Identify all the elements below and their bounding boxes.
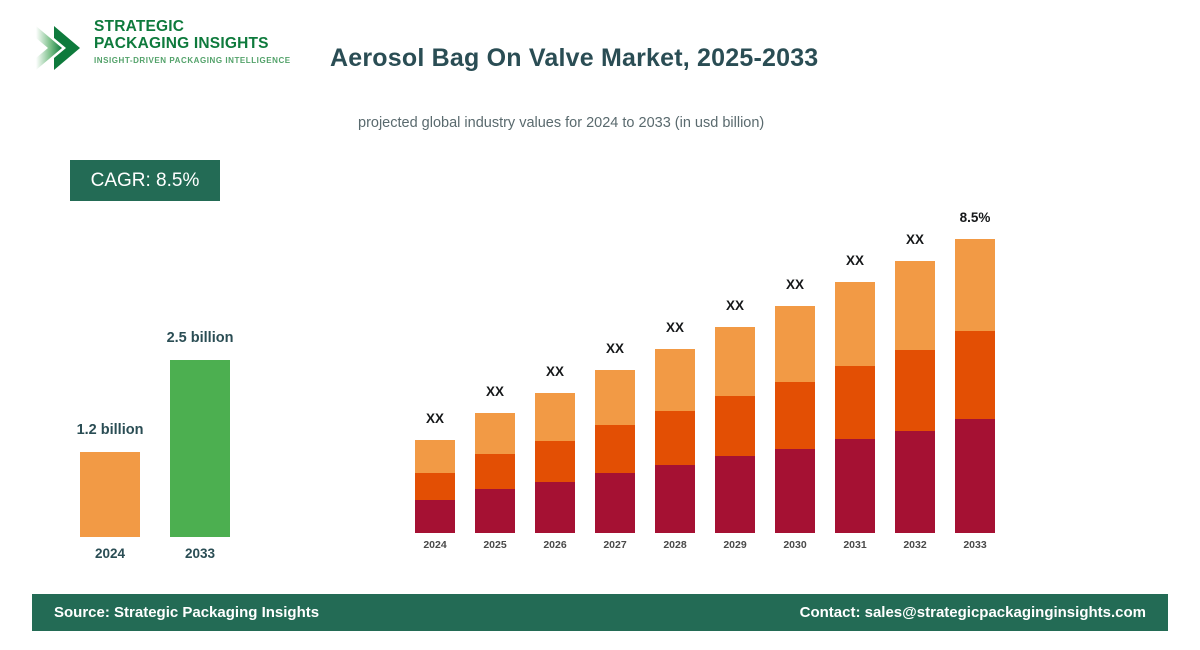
forecast-value-annotation: 8.5%: [930, 210, 1020, 225]
forecast-bar-segment: [775, 382, 815, 449]
forecast-bar-segment: [955, 419, 995, 533]
footer-source-label: Source: Strategic Packaging Insights: [54, 604, 319, 621]
forecast-bar-segment: [835, 282, 875, 366]
forecast-bar-group: XX2029: [715, 0, 755, 600]
forecast-value-annotation: XX: [510, 364, 600, 379]
forecast-bar-group: XX2028: [655, 0, 695, 600]
forecast-bar-segment: [715, 396, 755, 456]
forecast-bar-group: XX2031: [835, 0, 875, 600]
forecast-bar-segment: [595, 370, 635, 425]
forecast-bar-segment: [655, 349, 695, 411]
forecast-bar-segment: [475, 413, 515, 454]
forecast-bar-segment: [535, 482, 575, 533]
forecast-value-annotation: XX: [810, 253, 900, 268]
forecast-stacked-chart: XX2024XX2025XX2026XX2027XX2028XX2029XX20…: [0, 0, 1200, 600]
chart-canvas: STRATEGIC PACKAGING INSIGHTS INSIGHT-DRI…: [0, 0, 1200, 650]
forecast-bar-segment: [895, 431, 935, 533]
forecast-bar-segment: [835, 439, 875, 533]
forecast-year-label: 2033: [930, 539, 1020, 551]
forecast-bar-segment: [775, 306, 815, 382]
forecast-value-annotation: XX: [750, 277, 840, 292]
forecast-bar-group: XX2024: [415, 0, 455, 600]
forecast-bar-group: XX2032: [895, 0, 935, 600]
forecast-bar-segment: [895, 261, 935, 350]
forecast-value-annotation: XX: [870, 232, 960, 247]
footer-contact-label: Contact: sales@strategicpackaginginsight…: [800, 604, 1146, 621]
forecast-bar-group: XX2026: [535, 0, 575, 600]
forecast-value-annotation: XX: [630, 320, 720, 335]
forecast-bar-segment: [535, 393, 575, 441]
forecast-bar-segment: [595, 473, 635, 533]
forecast-bar-segment: [595, 425, 635, 473]
forecast-bar-segment: [415, 473, 455, 500]
forecast-value-annotation: XX: [690, 298, 780, 313]
forecast-bar-group: XX2030: [775, 0, 815, 600]
forecast-bar-group: 8.5%2033: [955, 0, 995, 600]
forecast-bar-segment: [955, 331, 995, 419]
forecast-value-annotation: XX: [570, 341, 660, 356]
forecast-bar-segment: [775, 449, 815, 533]
forecast-value-annotation: XX: [450, 384, 540, 399]
forecast-value-annotation: XX: [390, 411, 480, 426]
forecast-bar-group: XX2025: [475, 0, 515, 600]
forecast-bar-segment: [955, 239, 995, 331]
forecast-bar-segment: [475, 454, 515, 489]
forecast-bar-segment: [715, 327, 755, 396]
footer-bar: Source: Strategic Packaging Insights Con…: [32, 594, 1168, 631]
forecast-bar-segment: [895, 350, 935, 431]
forecast-bar-segment: [475, 489, 515, 533]
forecast-bar-segment: [415, 500, 455, 533]
forecast-bar-group: XX2027: [595, 0, 635, 600]
forecast-bar-segment: [655, 465, 695, 533]
forecast-bar-segment: [535, 441, 575, 482]
forecast-bar-segment: [835, 366, 875, 439]
forecast-bar-segment: [655, 411, 695, 465]
forecast-bar-segment: [415, 440, 455, 473]
forecast-bar-segment: [715, 456, 755, 533]
